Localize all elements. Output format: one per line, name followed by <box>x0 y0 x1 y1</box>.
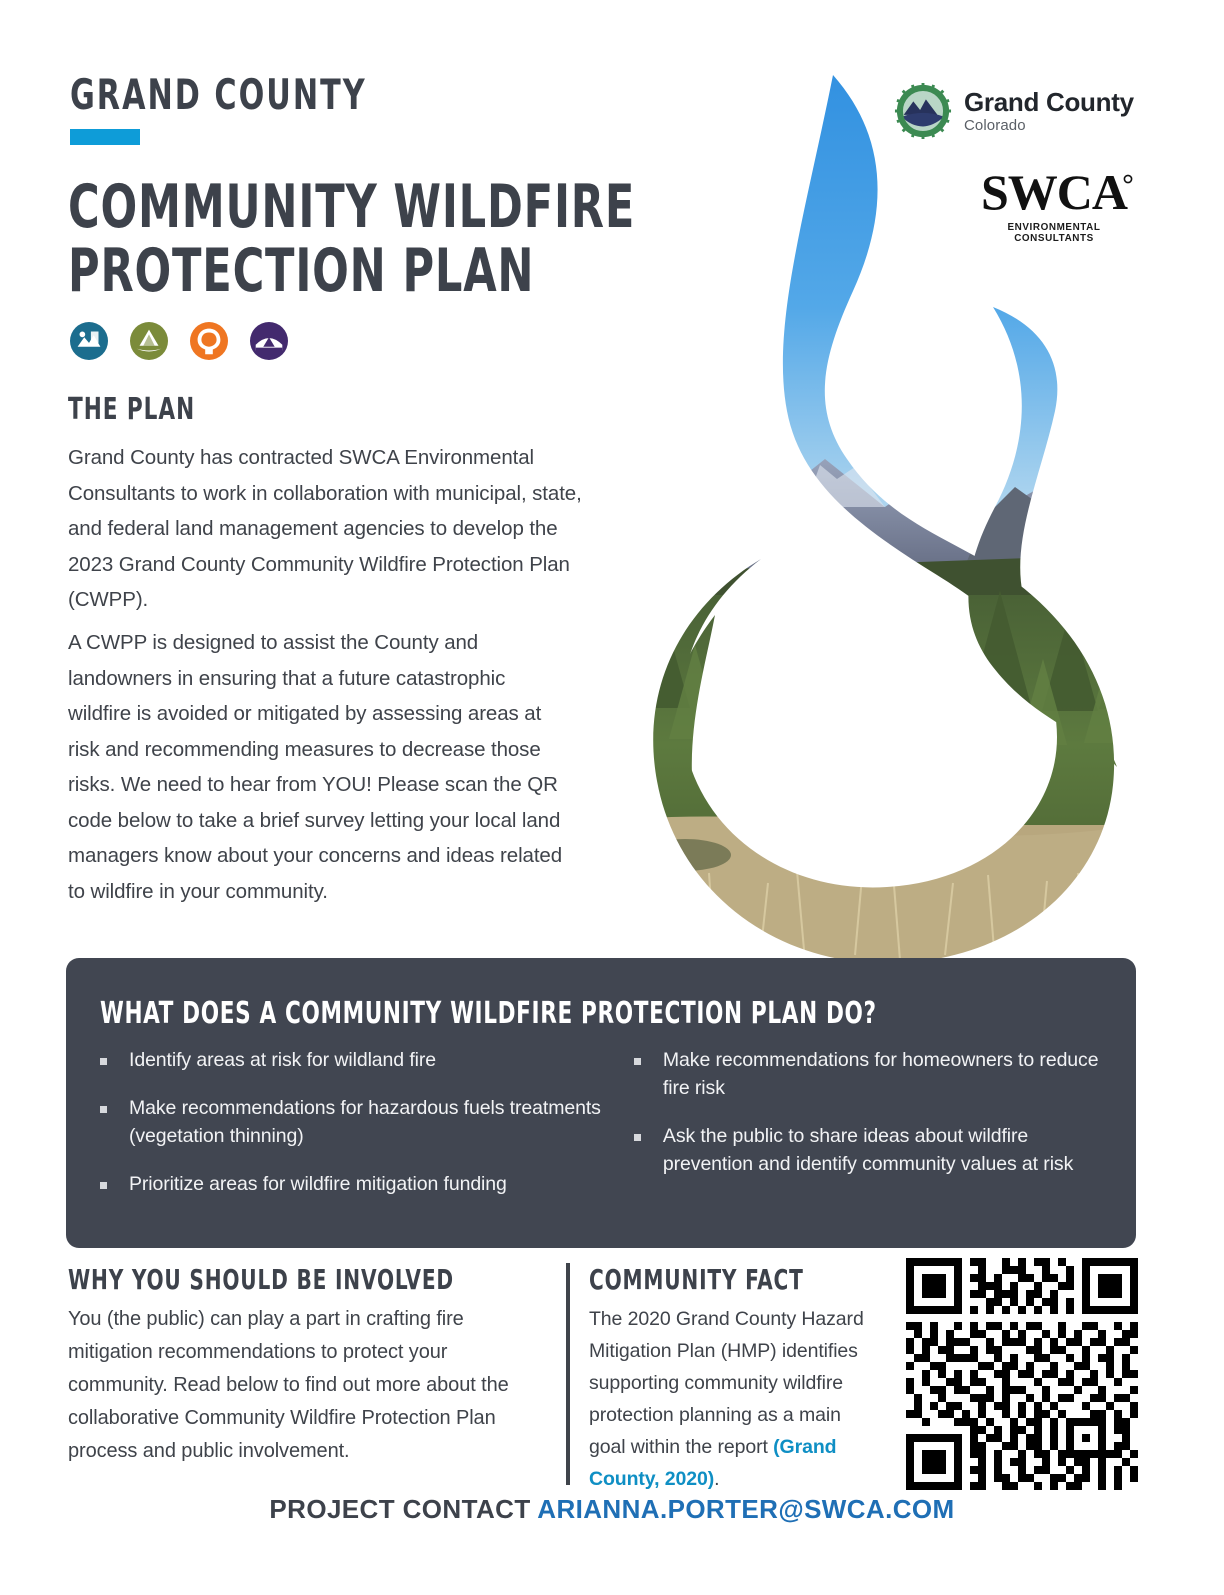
panel-bullet: Prioritize areas for wildfire mitigation… <box>100 1170 604 1198</box>
why-involved-heading: WHY YOU SHOULD BE INVOLVED <box>68 1263 454 1296</box>
the-plan-paragraph-2: A CWPP is designed to assist the County … <box>68 625 568 909</box>
panel-column-right: Make recommendations for homeowners to r… <box>612 1046 1116 1218</box>
us-forest-service-icon <box>130 322 168 360</box>
poster-page: GRAND COUNTY COMMUNITY WILDFIRE PROTECTI… <box>0 0 1224 1595</box>
panel-bullet: Identify areas at risk for wildland fire <box>100 1046 604 1074</box>
why-involved-body: You (the public) can play a part in craf… <box>68 1303 538 1468</box>
swca-wordmark: SWCA <box>968 167 1140 219</box>
section-divider <box>566 1263 570 1485</box>
the-plan-paragraph-1: Grand County has contracted SWCA Environ… <box>68 440 588 618</box>
footer-contact: PROJECT CONTACT ARIANNA.PORTER@SWCA.COM <box>0 1494 1224 1525</box>
project-contact-label: PROJECT CONTACT <box>269 1494 537 1524</box>
kicker-grand-county: GRAND COUNTY <box>70 70 367 119</box>
community-fact-body: The 2020 Grand County Hazard Mitigation … <box>589 1303 879 1495</box>
page-title-line1: COMMUNITY WILDFIRE <box>68 172 635 242</box>
grand-county-logo: Grand County Colorado <box>894 82 1134 140</box>
swca-logo: SWCA ENVIRONMENTAL CONSULTANTS <box>968 167 1140 244</box>
colorado-state-forest-service-icon <box>190 322 228 360</box>
grand-county-seal-icon <box>894 82 952 140</box>
bullet-square-icon <box>634 1134 641 1141</box>
bullet-square-icon <box>100 1106 107 1113</box>
community-fact-heading: COMMUNITY FACT <box>589 1263 804 1296</box>
qr-code-survey-link[interactable] <box>906 1258 1138 1490</box>
panel-bullet: Ask the public to share ideas about wild… <box>634 1122 1116 1178</box>
swca-tagline: ENVIRONMENTAL CONSULTANTS <box>971 222 1138 244</box>
national-park-service-icon <box>250 322 288 360</box>
grand-county-sub: Colorado <box>964 117 1134 134</box>
the-plan-heading: THE PLAN <box>68 392 195 427</box>
page-title-line2: PROTECTION PLAN <box>68 236 534 306</box>
citation-period: . <box>714 1468 719 1490</box>
panel-bullet: Make recommendations for hazardous fuels… <box>100 1094 604 1150</box>
bullet-square-icon <box>634 1058 641 1065</box>
panel-columns: Identify areas at risk for wildland fire… <box>100 1046 1116 1218</box>
panel-column-left: Identify areas at risk for wildland fire… <box>100 1046 604 1218</box>
bullet-square-icon <box>100 1058 107 1065</box>
accent-rule <box>70 129 140 145</box>
grand-county-name: Grand County <box>964 88 1134 116</box>
bullet-square-icon <box>100 1182 107 1189</box>
bureau-of-land-management-icon <box>70 322 108 360</box>
cwpp-purpose-panel: WHAT DOES A COMMUNITY WILDFIRE PROTECTIO… <box>66 958 1136 1248</box>
panel-bullet: Make recommendations for homeowners to r… <box>634 1046 1116 1102</box>
panel-heading: WHAT DOES A COMMUNITY WILDFIRE PROTECTIO… <box>100 996 877 1031</box>
project-contact-email[interactable]: ARIANNA.PORTER@SWCA.COM <box>537 1494 954 1524</box>
agency-icon-row <box>70 322 288 360</box>
svg-text:SWCA: SWCA <box>981 167 1128 219</box>
